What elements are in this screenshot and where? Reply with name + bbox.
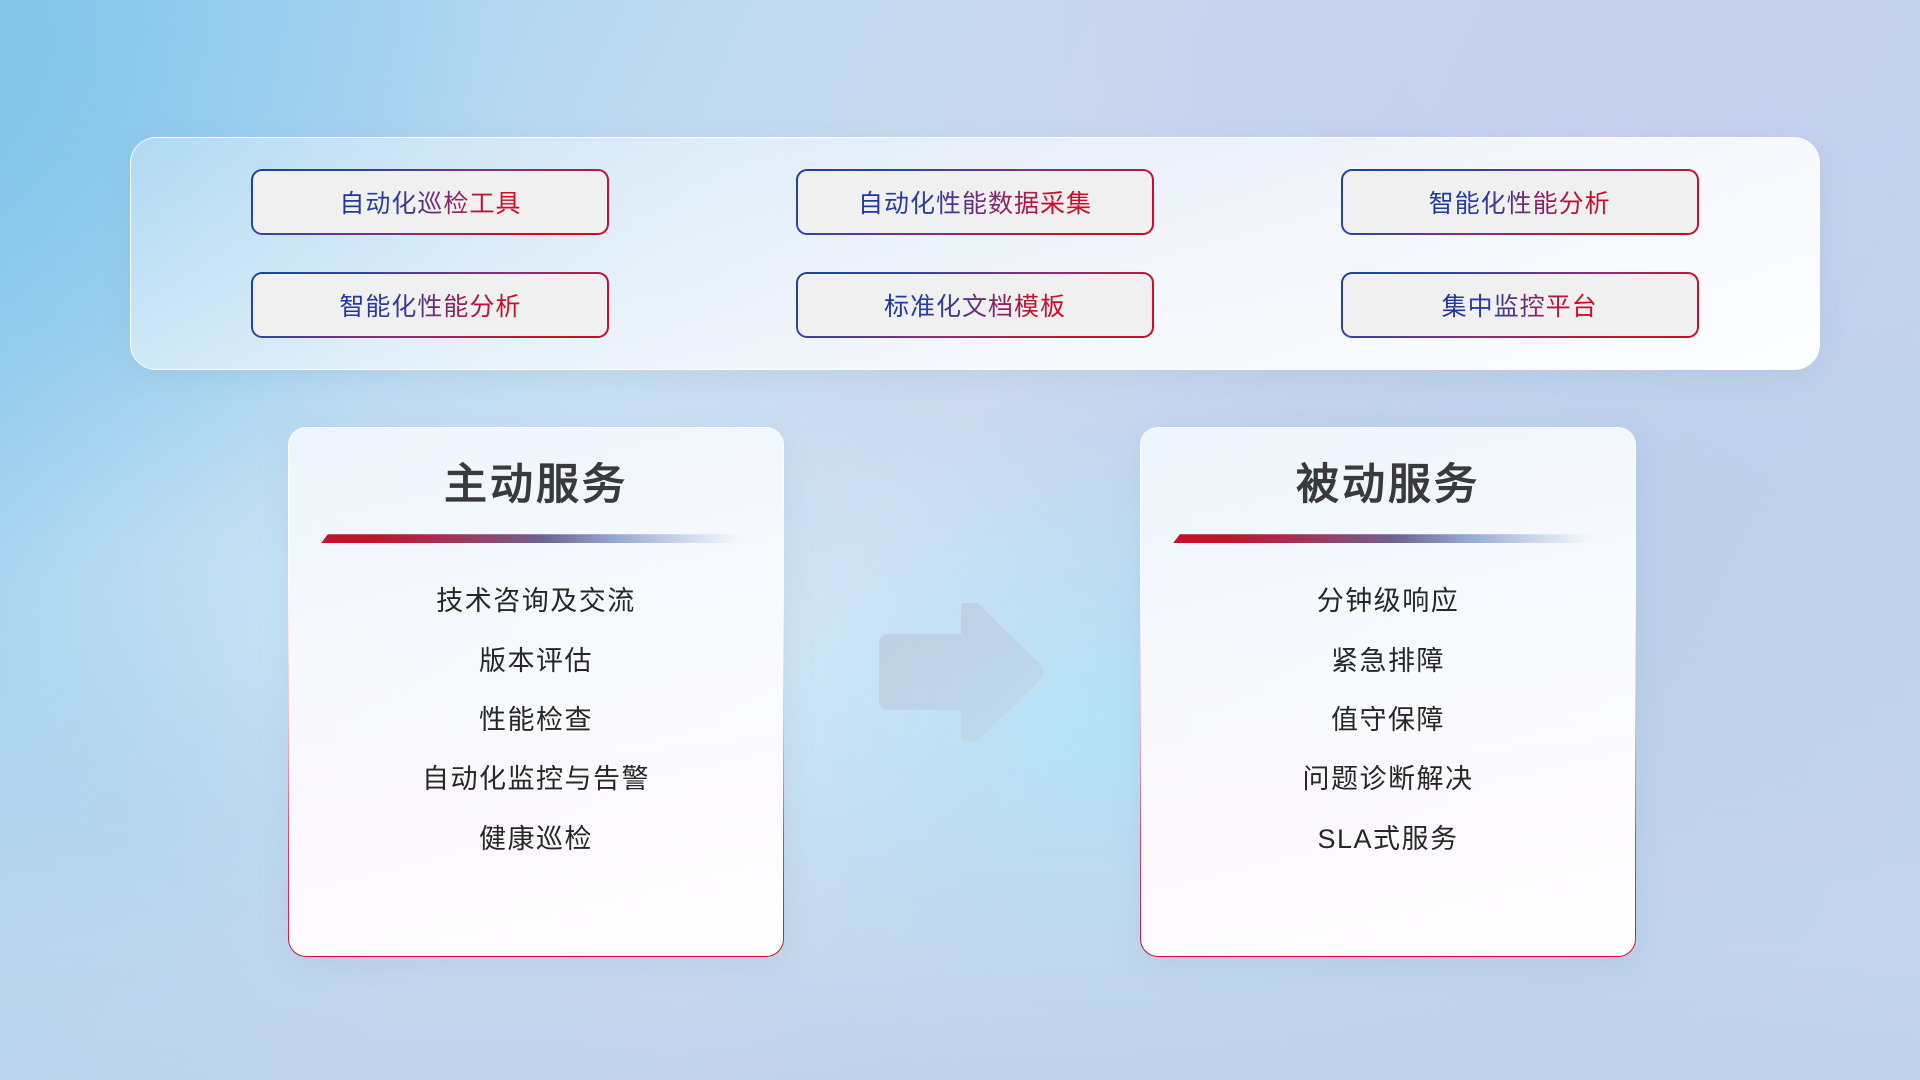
- service-card-reactive: 被动服务 分钟级响应 紧急排障 值守保障 问题诊断解决 SLA式服务: [1140, 427, 1636, 957]
- card-item-list: 技术咨询及交流 版本评估 性能检查 自动化监控与告警 健康巡检: [319, 585, 753, 855]
- card-item-list: 分钟级响应 紧急排障 值守保障 问题诊断解决 SLA式服务: [1171, 585, 1605, 855]
- capability-tag[interactable]: 标准化文档模板: [796, 272, 1154, 338]
- capability-tags-panel: 自动化巡检工具 自动化性能数据采集 智能化性能分析 智能化性能分析 标准化文档模…: [130, 137, 1820, 370]
- list-item: 性能检查: [479, 704, 593, 736]
- card-divider: [321, 534, 751, 543]
- list-item: 技术咨询及交流: [436, 585, 636, 617]
- card-title: 被动服务: [1171, 462, 1605, 509]
- list-item: 问题诊断解决: [1303, 763, 1474, 795]
- list-item: 紧急排障: [1331, 645, 1445, 677]
- capability-tag[interactable]: 自动化巡检工具: [251, 169, 609, 235]
- list-item: 健康巡检: [479, 823, 593, 855]
- list-item: 值守保障: [1331, 704, 1445, 736]
- capability-tag-label: 标准化文档模板: [884, 287, 1066, 323]
- list-item: 版本评估: [479, 645, 593, 677]
- list-item: SLA式服务: [1317, 823, 1458, 855]
- arrow-right-icon: [878, 603, 1043, 741]
- capability-tag-label: 自动化性能数据采集: [858, 184, 1092, 220]
- service-card-proactive: 主动服务 技术咨询及交流 版本评估 性能检查 自动化监控与告警 健康巡检: [288, 427, 784, 957]
- capability-tag-label: 智能化性能分析: [339, 287, 521, 323]
- card-title: 主动服务: [319, 462, 753, 509]
- capability-tag[interactable]: 自动化性能数据采集: [796, 169, 1154, 235]
- capability-tag[interactable]: 智能化性能分析: [251, 272, 609, 338]
- capability-tag-label: 自动化巡检工具: [339, 184, 521, 220]
- list-item: 分钟级响应: [1317, 585, 1460, 617]
- capability-tag-label: 集中监控平台: [1442, 287, 1598, 323]
- list-item: 自动化监控与告警: [422, 763, 650, 795]
- card-divider: [1173, 534, 1603, 543]
- capability-tag-label: 智能化性能分析: [1429, 184, 1611, 220]
- capability-tag[interactable]: 集中监控平台: [1341, 272, 1699, 338]
- capability-tag[interactable]: 智能化性能分析: [1341, 169, 1699, 235]
